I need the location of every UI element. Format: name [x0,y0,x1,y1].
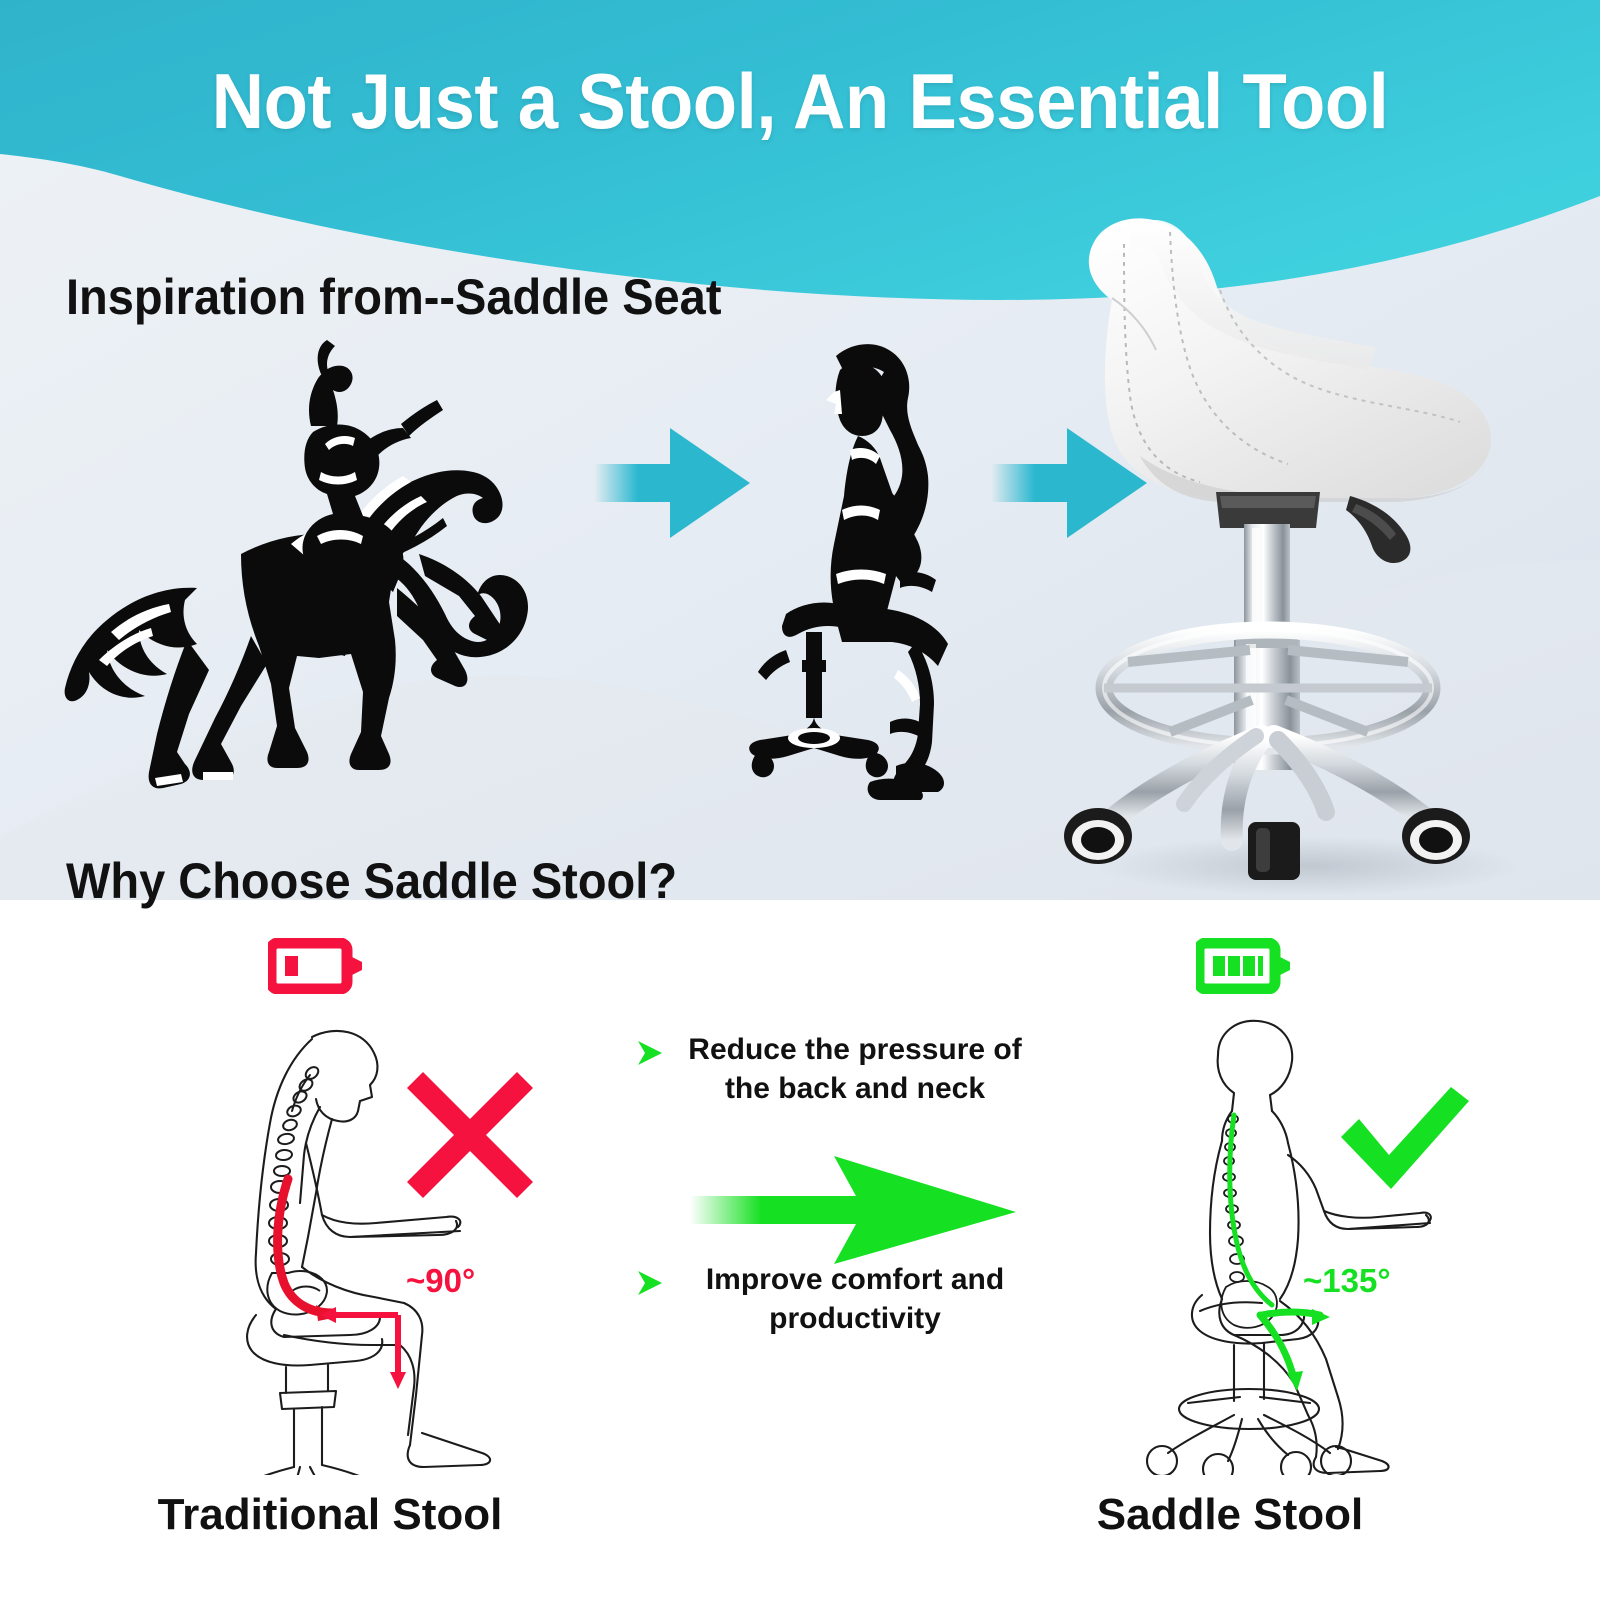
battery-low-icon [268,938,364,994]
saddle-posture-diagram [1130,1015,1470,1475]
inspiration-heading: Inspiration from--Saddle Seat [66,268,721,326]
knight-on-horse-icon [45,340,565,790]
product-saddle-stool-photo [1020,180,1580,900]
woman-on-saddle-stool-icon [730,330,990,800]
bullet-item-2: Improve comfort and productivity [660,1260,1050,1338]
page-title: Not Just a Stool, An Essential Tool [56,56,1544,147]
bullet-1-line-2: the back and neck [660,1069,1050,1108]
comparison-heading: Why Choose Saddle Stool? [66,852,677,910]
angle-label-saddle: ~135° [1303,1262,1391,1300]
bullet-1-line-1: Reduce the pressure of [660,1030,1050,1069]
bullet-2-line-2: productivity [660,1299,1050,1338]
green-arrow-icon [670,1150,1030,1270]
bullet-2-line-1: Improve comfort and [660,1260,1050,1299]
bullet-item-1: Reduce the pressure of the back and neck [660,1030,1050,1108]
saddle-stool-label: Saddle Stool [1010,1490,1450,1540]
check-icon [1335,1085,1475,1200]
battery-full-icon [1196,938,1292,994]
traditional-stool-label: Traditional Stool [80,1490,580,1540]
infographic-page: Not Just a Stool, An Essential Tool Insp… [0,0,1600,1600]
cross-icon [405,1070,535,1200]
angle-label-traditional: ~90° [406,1262,475,1300]
